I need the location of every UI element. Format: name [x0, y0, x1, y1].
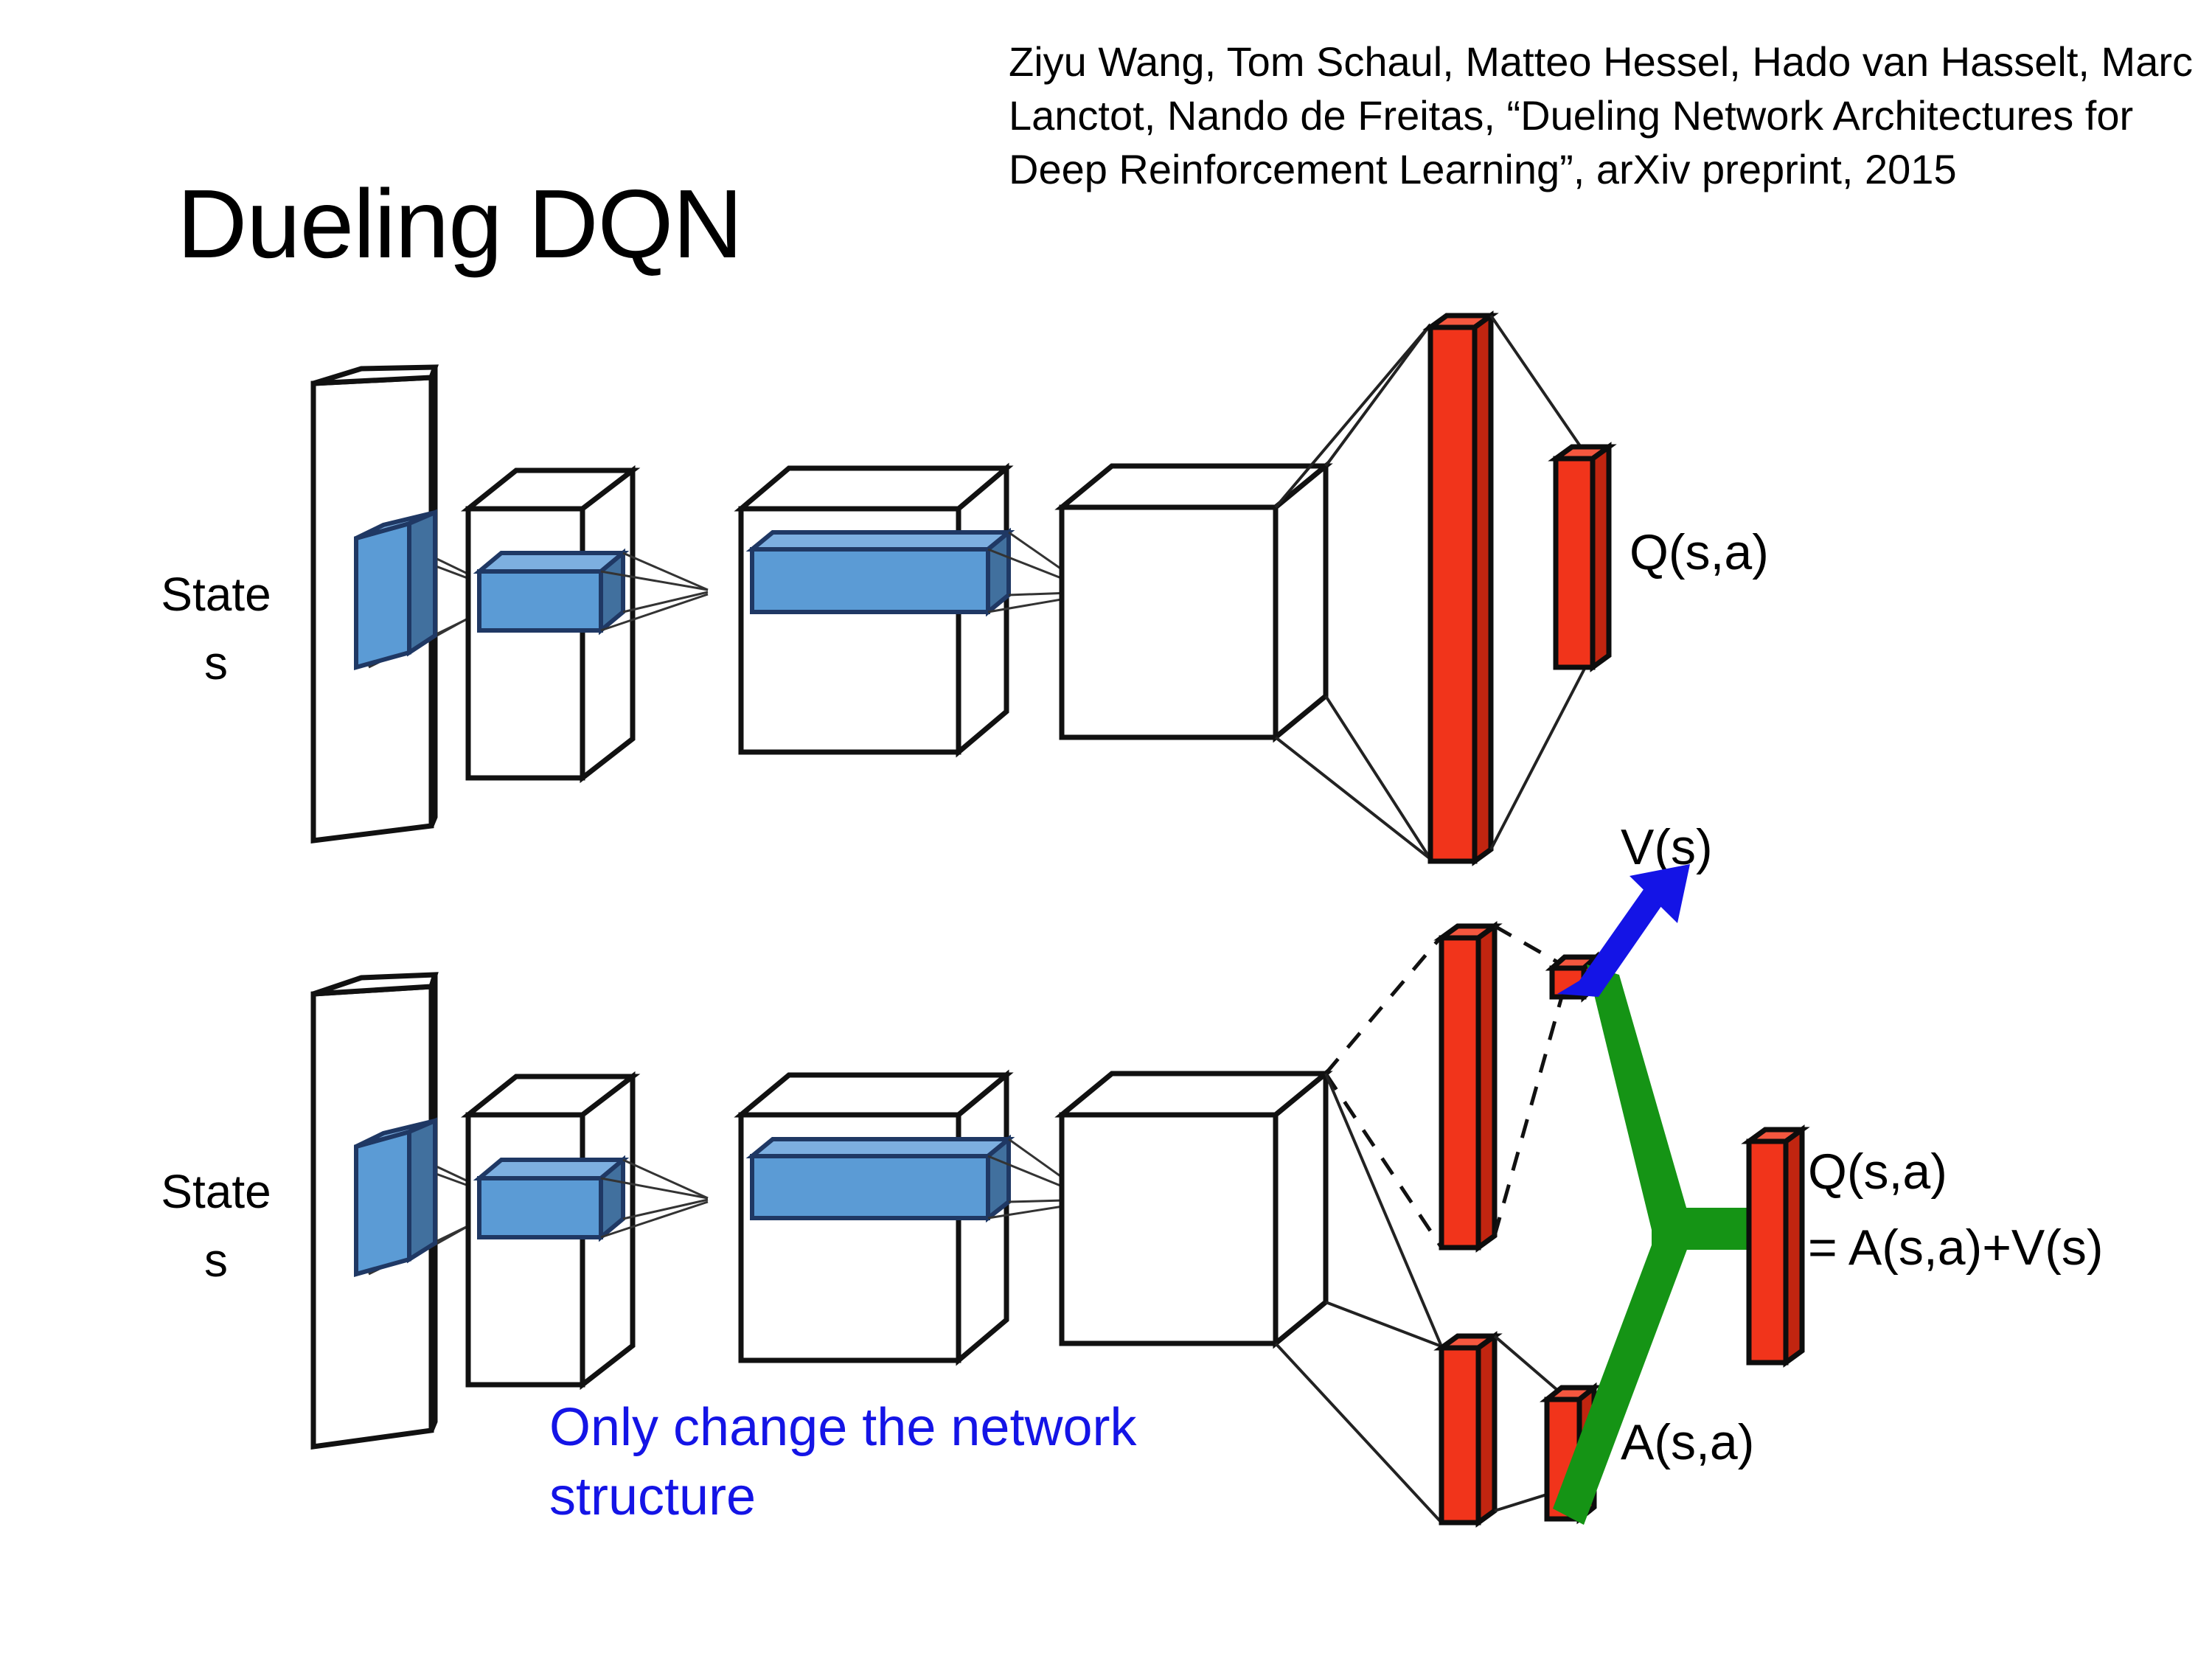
conv-block-1-top: [468, 470, 633, 778]
conv-block-3-bottom: [1062, 1074, 1326, 1343]
conn-fc-to-output-top: [1491, 316, 1585, 849]
conv-block-2-bottom: [741, 1075, 1006, 1360]
value-output-cube: [1552, 957, 1596, 997]
conv-block-3-top: [1062, 466, 1326, 737]
slide-canvas: Dueling DQN Ziyu Wang, Tom Schaul, Matte…: [0, 0, 2212, 1659]
value-arrow-blue: [1557, 864, 1690, 997]
conn-conv1-to-conv2-bottom: [601, 1160, 708, 1237]
advantage-output-bar: [1547, 1388, 1594, 1519]
conn-advantage-fc-to-output: [1495, 1336, 1563, 1511]
fc-layer-bar-top: [1430, 316, 1491, 861]
conn-input-to-conv1-bottom: [361, 1147, 509, 1274]
state-label-top-line1: State: [116, 560, 316, 629]
input-kernel-bottom: [356, 1121, 435, 1274]
v-output-label: V(s): [1621, 815, 1713, 880]
conn-conv3-to-advantage-fc: [1276, 1074, 1441, 1523]
q-output-bar-top: [1556, 447, 1609, 667]
state-label-top: State s: [116, 560, 316, 698]
conv-kernel-1-bottom: [479, 1160, 623, 1237]
input-plane-bottom: [313, 975, 435, 1447]
conn-value-fc-to-value-output: [1495, 926, 1562, 1236]
advantage-fc-bar: [1441, 1336, 1495, 1523]
conv-kernel-1-top: [479, 553, 623, 630]
conv-block-1-bottom: [468, 1077, 633, 1385]
conn-conv3-to-value-fc: [1326, 936, 1441, 1248]
conv-kernel-2-bottom: [752, 1139, 1009, 1218]
q-output-label-top: Q(s,a): [1630, 520, 1769, 585]
combined-q-output-bar: [1749, 1130, 1802, 1363]
input-kernel-top: [356, 512, 435, 667]
conn-conv2-to-conv3-bottom: [988, 1139, 1091, 1218]
conn-conv3-to-fc-top: [1276, 324, 1430, 859]
conn-conv1-to-conv2-top: [601, 553, 708, 630]
conn-input-to-conv1-top: [361, 538, 509, 667]
note-only-change-network-structure: Only change the network structure: [549, 1394, 1213, 1531]
standard-dqn-network: [313, 316, 1609, 861]
state-label-bottom-line2: s: [116, 1226, 316, 1295]
conv-kernel-2-top: [752, 532, 1009, 612]
state-label-top-line2: s: [116, 629, 316, 698]
conv-block-2-top: [741, 468, 1006, 752]
value-fc-bar: [1441, 926, 1495, 1248]
page-title: Dueling DQN: [177, 173, 742, 276]
state-label-bottom-line1: State: [116, 1158, 316, 1226]
input-plane-top: [313, 367, 435, 841]
state-label-bottom: State s: [116, 1158, 316, 1295]
a-output-label: A(s,a): [1621, 1410, 1754, 1475]
paper-citation: Ziyu Wang, Tom Schaul, Matteo Hessel, Ha…: [1009, 35, 2203, 196]
q-output-label-bottom-line2: = A(s,a)+V(s): [1808, 1215, 2104, 1280]
q-output-label-bottom-line1: Q(s,a): [1808, 1139, 1947, 1204]
conn-conv2-to-conv3-top: [988, 532, 1091, 612]
